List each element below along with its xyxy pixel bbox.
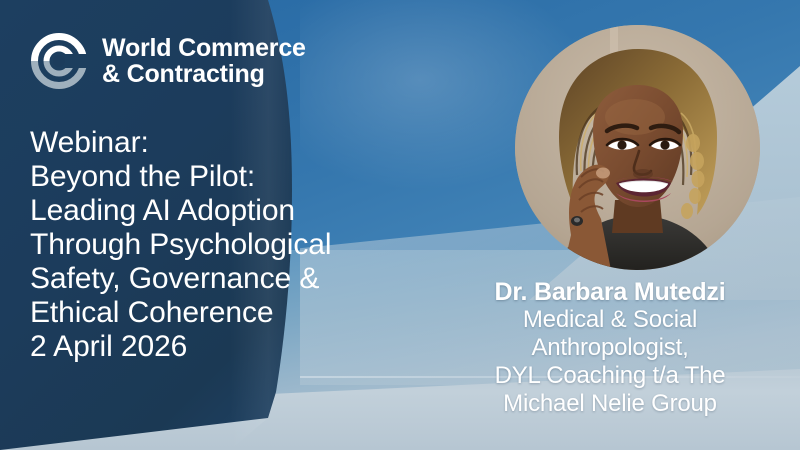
webinar-title: Webinar: Beyond the Pilot: Leading AI Ad… xyxy=(30,126,400,364)
speaker-portrait-photo xyxy=(515,25,760,270)
concentric-circles-logo-icon xyxy=(30,32,88,90)
speaker-name: Dr. Barbara Mutedzi xyxy=(420,278,800,306)
brand-logo-lockup: World Commerce & Contracting xyxy=(30,32,306,90)
speaker-info: Dr. Barbara Mutedzi Medical & Social Ant… xyxy=(420,278,800,418)
webinar-promo-slide: World Commerce & Contracting Webinar: Be… xyxy=(0,0,800,450)
brand-wordmark: World Commerce & Contracting xyxy=(102,35,306,87)
speaker-role: Medical & Social Anthropologist, DYL Coa… xyxy=(420,306,800,418)
